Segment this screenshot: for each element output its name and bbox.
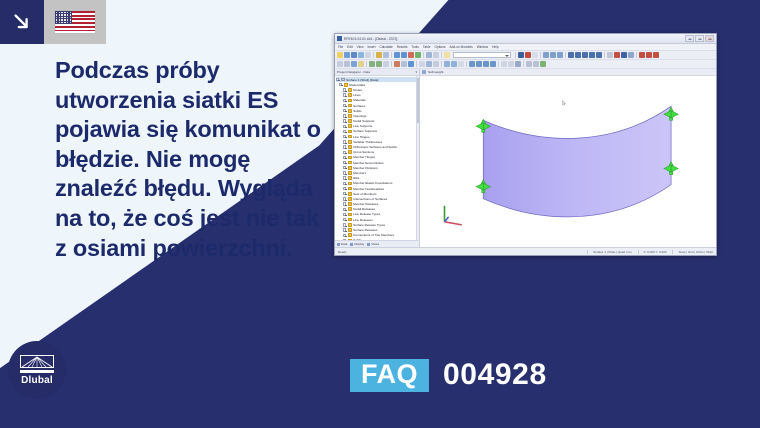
folder-icon: [348, 109, 352, 113]
maximize-button[interactable]: [695, 35, 704, 42]
toolbar-icon-new[interactable]: [337, 52, 343, 58]
toolbar-icon-view-fit[interactable]: [596, 52, 602, 58]
toolbar-icon-view-front[interactable]: [568, 52, 574, 58]
folder-icon: [348, 99, 352, 103]
toolbar-icon-open[interactable]: [344, 52, 350, 58]
folder-icon: [348, 140, 352, 144]
toolbar2-icon-hinge[interactable]: [376, 61, 382, 67]
cursor-icon: [562, 100, 566, 106]
tree-root-label: Surface 1 (Shell) [Data]: [346, 78, 378, 82]
navigator-pin-icon[interactable]: ▾: [415, 70, 417, 74]
folder-icon: [341, 78, 345, 82]
navigator-tab-views[interactable]: Views: [367, 242, 379, 246]
navigator-tab-display[interactable]: Display: [350, 242, 364, 246]
coordinate-axes-icon: [444, 206, 461, 225]
toolbar-icon-calculate[interactable]: [415, 52, 421, 58]
folder-icon: [348, 223, 352, 227]
menu-item-edit[interactable]: Edit: [347, 45, 353, 49]
viewport-canvas[interactable]: [420, 76, 716, 247]
dlubal-bridge-icon: [20, 355, 54, 373]
us-flag-icon: [44, 0, 106, 44]
folder-icon: [348, 130, 352, 134]
toolbar-icon-undo[interactable]: [394, 52, 400, 58]
menu-item-insert[interactable]: Insert: [368, 45, 376, 49]
toolbar2-icon-measure[interactable]: [433, 61, 439, 67]
navigator-title: Project Navigator - Data: [337, 70, 370, 74]
folder-icon: [348, 202, 352, 206]
close-button[interactable]: [705, 35, 714, 42]
toolbar-icon-cut[interactable]: [376, 52, 382, 58]
toolbar2-icon-support[interactable]: [369, 61, 375, 67]
viewport-tab[interactable]: Self-weight: [420, 69, 716, 76]
folder-icon: [348, 182, 352, 186]
toolbar2-icon-sel-4[interactable]: [490, 61, 496, 67]
toolbar-icon-result-3[interactable]: [653, 52, 659, 58]
folder-icon: [348, 124, 352, 128]
dlubal-logo: Dlubal: [8, 341, 66, 399]
toolbar-icon-loadcase[interactable]: [444, 52, 450, 58]
toolbar2-icon-load[interactable]: [394, 61, 400, 67]
menu-item-window[interactable]: Window: [477, 45, 488, 49]
window-controls[interactable]: [685, 35, 714, 42]
toolbar2-icon-misc-4[interactable]: [526, 61, 532, 67]
toolbar2-icon-group[interactable]: [426, 61, 432, 67]
toolbar2-icon-misc-5[interactable]: [533, 61, 539, 67]
load-case-combo[interactable]: [453, 52, 511, 58]
menu-item-help[interactable]: Help: [492, 45, 499, 49]
top-left-badges: [0, 0, 106, 44]
project-navigator[interactable]: Project Navigator - Data ▾ Surface 1 (Sh…: [335, 69, 420, 247]
folder-icon: [348, 218, 352, 222]
folder-icon: [348, 135, 352, 139]
status-ready: Ready: [335, 250, 347, 254]
status-segment-3: Snap | Grid | Ortho | Objct: [672, 250, 713, 254]
folder-icon: [348, 93, 352, 97]
toolbar2-icon-text[interactable]: [451, 61, 457, 67]
toolbar-icon-snap[interactable]: [607, 52, 613, 58]
toolbar2-icon-misc-1[interactable]: [501, 61, 507, 67]
page-title: Podczas próby utworzenia siatki ES pojaw…: [55, 56, 327, 263]
toolbar2-icon-misc-2[interactable]: [508, 61, 514, 67]
folder-icon: [348, 88, 352, 92]
toolbar-row-1[interactable]: [335, 51, 716, 60]
toolbar2-icon-lock[interactable]: [458, 61, 464, 67]
toolbar2-icon-member[interactable]: [383, 61, 389, 67]
toolbar-icon-render[interactable]: [518, 52, 524, 58]
model-viewport[interactable]: Self-weight: [420, 69, 716, 247]
toolbar-icon-print[interactable]: [358, 52, 364, 58]
folder-icon: [348, 176, 352, 180]
toolbar-icon-result-1[interactable]: [639, 52, 645, 58]
model-surface-graphic: [420, 76, 716, 247]
toolbar-icon-copy[interactable]: [383, 52, 389, 58]
arrow-down-right-icon: [0, 0, 44, 44]
folder-icon: [348, 145, 352, 149]
menu-item-tools[interactable]: Tools: [411, 45, 418, 49]
rfem-application-window[interactable]: RFEM 5.24.01 x64 - [Dlubal - 2372] File …: [334, 33, 717, 256]
toolbar-icon-delete[interactable]: [408, 52, 414, 58]
faq-tag: FAQ: [350, 359, 429, 392]
navigator-tabs[interactable]: Data Display Views: [335, 240, 419, 247]
folder-icon: [348, 150, 352, 154]
window-titlebar[interactable]: RFEM 5.24.01 x64 - [Dlubal - 2372]: [335, 34, 716, 44]
dlubal-logo-text: Dlubal: [21, 375, 53, 386]
toolbar-icon-zoom[interactable]: [543, 52, 549, 58]
toolbar2-icon-line[interactable]: [344, 61, 350, 67]
menu-bar[interactable]: File Edit View Insert Calculate Results …: [335, 44, 716, 51]
toolbar-icon-preview[interactable]: [365, 52, 371, 58]
faq-strip: FAQ 004928: [350, 358, 547, 392]
folder-icon: [348, 161, 352, 165]
folder-icon: [348, 114, 352, 118]
toolbar2-icon-arc[interactable]: [351, 61, 357, 67]
minimize-button[interactable]: [685, 35, 694, 42]
toolbar-icon-visibility[interactable]: [628, 52, 634, 58]
folder-icon: [344, 83, 348, 87]
menu-item-table[interactable]: Table: [423, 45, 431, 49]
toolbar-icon-rotate[interactable]: [557, 52, 563, 58]
status-segment-1: Surface 1 | Plate | Quad | Iso: [587, 250, 631, 254]
menu-item-options[interactable]: Options: [435, 45, 446, 49]
menu-item-calculate[interactable]: Calculate: [379, 45, 392, 49]
folder-icon: [348, 187, 352, 191]
menu-item-file[interactable]: File: [338, 45, 343, 49]
toolbar-icon-section[interactable]: [621, 52, 627, 58]
toolbar2-icon-surface[interactable]: [358, 61, 364, 67]
load-case-icon: [422, 70, 426, 74]
folder-icon: [348, 207, 352, 211]
navigator-tab-data[interactable]: Data: [337, 242, 347, 246]
work-area: Project Navigator - Data ▾ Surface 1 (Sh…: [335, 69, 716, 247]
toolbar2-icon-dim[interactable]: [444, 61, 450, 67]
folder-icon: [348, 233, 352, 237]
toolbar2-icon-sel-1[interactable]: [469, 61, 475, 67]
toolbar-icon-view-side[interactable]: [582, 52, 588, 58]
folder-icon: [348, 239, 352, 240]
toolbar2-icon-sel-3[interactable]: [483, 61, 489, 67]
toolbar-icon-x-ray[interactable]: [614, 52, 620, 58]
folder-icon: [348, 213, 352, 217]
toolbar-icon-view-iso[interactable]: [589, 52, 595, 58]
toolbar2-icon-sel-2[interactable]: [476, 61, 482, 67]
viewport-tab-label: Self-weight: [428, 70, 443, 74]
toolbar-icon-deform[interactable]: [525, 52, 531, 58]
folder-icon: [348, 119, 352, 123]
folder-icon: [348, 166, 352, 170]
folder-icon: [348, 197, 352, 201]
tree-item-solids-2[interactable]: Solids: [336, 238, 419, 240]
toolbar2-icon-run[interactable]: [540, 61, 546, 67]
navigator-scrollbar[interactable]: [416, 76, 420, 240]
folder-icon: [348, 156, 352, 160]
navigator-tree[interactable]: Surface 1 (Shell) [Data] Model Data Node…: [335, 76, 419, 240]
status-bar: Ready Surface 1 | Plate | Quad | Iso X: …: [335, 247, 716, 255]
toolbar2-icon-layer[interactable]: [419, 61, 425, 67]
toolbar-icon-redo[interactable]: [401, 52, 407, 58]
app-icon: [337, 36, 342, 41]
navigator-header: Project Navigator - Data ▾: [335, 69, 419, 76]
folder-icon: [348, 192, 352, 196]
toolbar2-icon-misc-3[interactable]: [515, 61, 521, 67]
toolbar-icon-pan[interactable]: [550, 52, 556, 58]
status-segment-2: X: 0.000 Y: 0.000: [638, 250, 667, 254]
folder-icon: [348, 171, 352, 175]
toolbar-icon-wire[interactable]: [532, 52, 538, 58]
toolbar-row-2[interactable]: [335, 60, 716, 69]
toolbar-icon-view-top[interactable]: [575, 52, 581, 58]
menu-item-results[interactable]: Results: [397, 45, 408, 49]
expander-icon[interactable]: [336, 78, 339, 81]
window-title: RFEM 5.24.01 x64 - [Dlubal - 2372]: [344, 37, 683, 41]
toolbar2-icon-fe[interactable]: [408, 61, 414, 67]
toolbar-icon-table[interactable]: [426, 52, 432, 58]
faq-number: 004928: [443, 358, 547, 392]
menu-item-add-on[interactable]: Add-on Modules: [450, 45, 473, 49]
menu-item-view[interactable]: View: [357, 45, 364, 49]
toolbar-icon-save[interactable]: [351, 52, 357, 58]
toolbar-icon-grid[interactable]: [433, 52, 439, 58]
toolbar2-icon-mesh[interactable]: [401, 61, 407, 67]
toolbar-icon-result-2[interactable]: [646, 52, 652, 58]
toolbar2-icon-node[interactable]: [337, 61, 343, 67]
folder-icon: [348, 104, 352, 108]
folder-icon: [348, 228, 352, 232]
